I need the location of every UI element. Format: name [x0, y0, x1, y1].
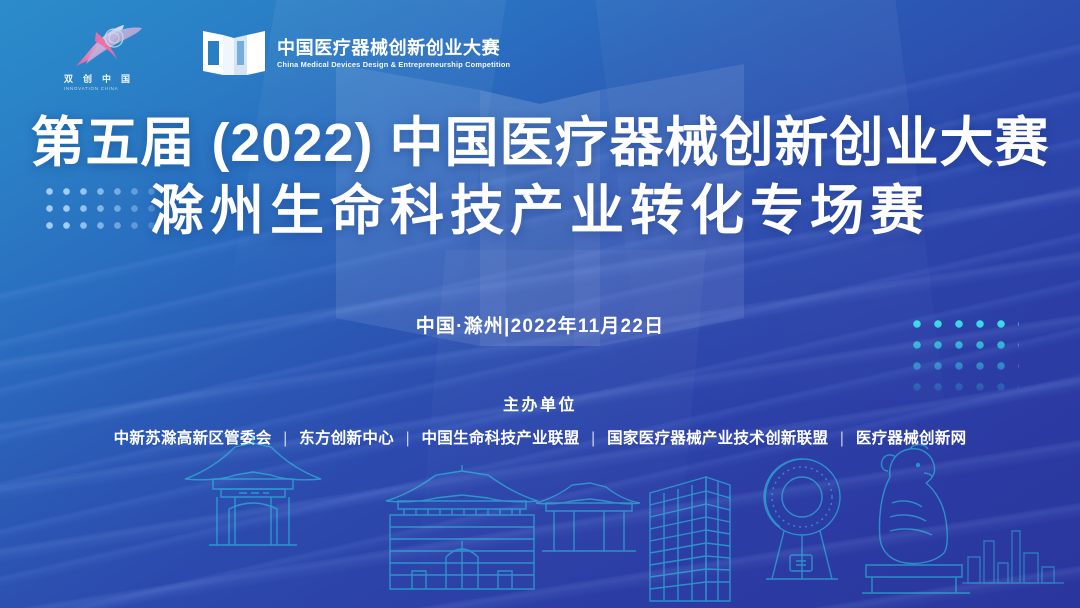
light-streaks [0, 0, 1080, 608]
page-title-line1: 第五届 (2022) 中国医疗器械创新创业大赛 [0, 112, 1080, 174]
event-dateline: 中国·滁州|2022年11月22日 [0, 311, 1080, 338]
page-title-line2: 滁州生命科技产业转化专场赛 [0, 180, 1080, 242]
chinese-archway-icon [536, 483, 640, 551]
organizer-item: 中国生命科技产业联盟 [422, 430, 580, 447]
organizer-item: 东方创新中心 [299, 430, 394, 447]
header-logos: 双 创 中 国 INNOVATION CHINA 中国医疗器械创新创业大赛 [62, 22, 510, 84]
logo-char: 国 [121, 74, 130, 84]
ring-sculpture-icon [764, 459, 840, 579]
logo-innovation-china-cn: 双 创 中 国 [64, 74, 130, 84]
poster-canvas: 双 创 中 国 INNOVATION CHINA 中国医疗器械创新创业大赛 [0, 0, 1080, 608]
organizer-separator: | [276, 430, 294, 447]
logo-char: 双 [64, 74, 73, 84]
chinese-pavilion-icon [185, 435, 321, 545]
main-titles: 第五届 (2022) 中国医疗器械创新创业大赛 滁州生命科技产业转化专场赛 [0, 112, 1080, 242]
competition-title-cn: 中国医疗器械创新创业大赛 [277, 38, 510, 58]
merlion-statue-icon [862, 445, 970, 594]
logo-divider [180, 30, 181, 76]
organizer-separator: | [584, 430, 602, 447]
organizer-separator: | [399, 430, 417, 447]
competition-title-en: China Medical Devices Design & Entrepren… [277, 60, 510, 69]
bird-logo-icon [62, 22, 158, 68]
city-buildings-icon [962, 531, 1064, 583]
logo-char: 创 [83, 74, 92, 84]
organizer-item: 国家医疗器械产业技术创新联盟 [607, 430, 828, 447]
logo-competition: 中国医疗器械创新创业大赛 China Medical Devices Desig… [203, 27, 510, 79]
organizer-item: 中新苏滁高新区管委会 [114, 430, 272, 447]
chinese-gate-tower-icon [386, 465, 538, 589]
logo-char: 中 [102, 74, 111, 84]
organizer-item: 医疗器械创新网 [856, 430, 967, 447]
city-skyline-illustration [0, 433, 1080, 608]
organizer-label: 主办单位 [0, 391, 1080, 415]
logo-innovation-china: 双 创 中 国 INNOVATION CHINA [62, 22, 158, 84]
gate-mark-icon [203, 27, 265, 79]
logo-innovation-china-en: INNOVATION CHINA [64, 86, 118, 91]
modern-office-tower-icon [650, 477, 730, 601]
organizer-separator: | [833, 430, 851, 447]
organizer-list: 中新苏滁高新区管委会 | 东方创新中心 | 中国生命科技产业联盟 | 国家医疗器… [0, 426, 1080, 448]
